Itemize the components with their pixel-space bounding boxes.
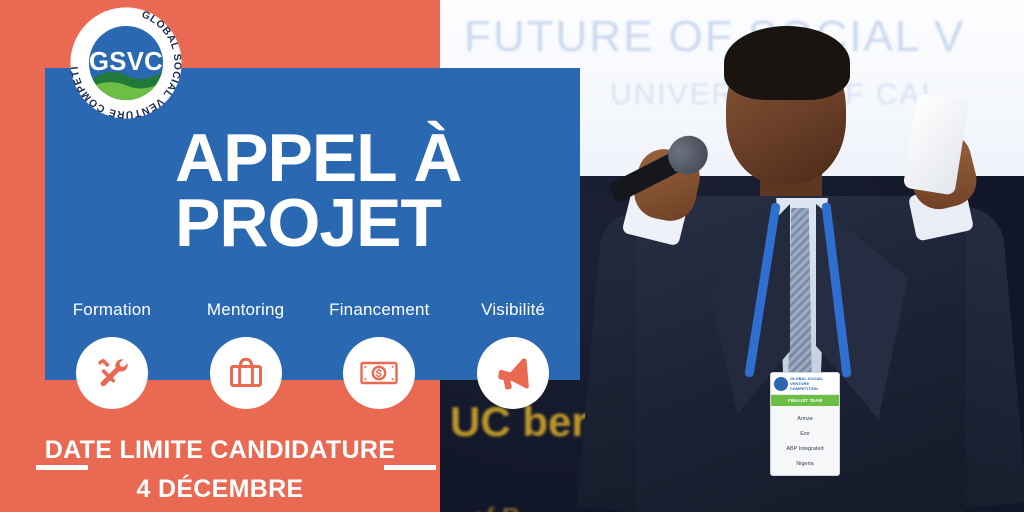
briefcase-icon (210, 337, 282, 409)
badge-org-block: GLOBAL SOCIAL VENTURE COMPETITION (790, 376, 836, 391)
badge-role: Eze (775, 431, 835, 437)
feature-item-visibilite: Visibilité (446, 300, 580, 409)
badge-gsvc-logo-icon (774, 377, 788, 391)
deadline-date: 4 DÉCEMBRE (0, 475, 440, 504)
badge-company: ABP Integrated (775, 446, 835, 452)
feature-label-formation: Formation (45, 300, 179, 320)
feature-list: Formation Mentoring (45, 300, 580, 409)
tools-icon (76, 337, 148, 409)
deadline-headline: DATE LIMITE CANDIDATURE (45, 436, 395, 465)
badge-org-sub: VENTURE COMPETITION (790, 381, 836, 391)
badge-status: FINALIST TEAM (771, 395, 839, 406)
headline-line-2: PROJET (175, 191, 575, 256)
feature-item-mentoring: Mentoring (179, 300, 313, 409)
banknote-dollar-icon (343, 337, 415, 409)
gsvc-logo: GLOBAL SOCIAL VENTURE COMPETITION GSVC (46, 6, 206, 120)
conference-badge: GLOBAL SOCIAL VENTURE COMPETITION FINALI… (770, 372, 840, 476)
deadline-block: DATE LIMITE CANDIDATURE 4 DÉCEMBRE (0, 436, 440, 504)
feature-item-formation: Formation (45, 300, 179, 409)
speaker-hair (724, 26, 850, 100)
feature-item-financement: Financement (313, 300, 447, 409)
badge-body: Arinze Eze ABP Integrated Nigeria (771, 406, 839, 476)
feature-label-visibilite: Visibilité (446, 300, 580, 320)
badge-name: Arinze (775, 416, 835, 422)
feature-label-financement: Financement (313, 300, 447, 320)
feature-label-mentoring: Mentoring (179, 300, 313, 320)
poster-canvas: FUTURE OF SOCIAL V UNIVERSITY OF CAL UC … (0, 0, 1024, 512)
badge-header: GLOBAL SOCIAL VENTURE COMPETITION (771, 373, 839, 395)
deadline-rule-right (384, 465, 436, 470)
megaphone-icon (477, 337, 549, 409)
deadline-rule-left (36, 465, 88, 470)
badge-country: Nigeria (775, 461, 835, 467)
headline-line-1: APPEL À (175, 126, 575, 191)
page-title: APPEL À PROJET (175, 126, 575, 257)
logo-acronym: GSVC (89, 48, 163, 76)
